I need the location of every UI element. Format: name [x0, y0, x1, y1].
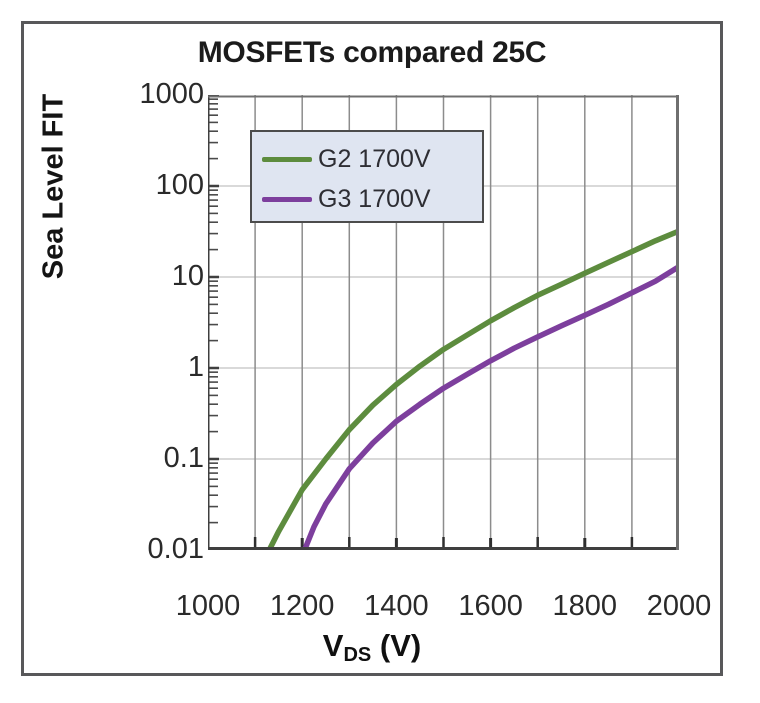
- legend-label-g2: G2 1700V: [318, 145, 431, 174]
- y-axis-tick-labels: 0.010.11101001000: [54, 95, 204, 550]
- y-tick-label: 0.1: [74, 444, 204, 473]
- x-axis-tick-labels: 100012001400160018002000: [208, 590, 679, 630]
- y-tick-label: 100: [74, 171, 204, 200]
- x-axis-title: VDS (V): [24, 628, 720, 664]
- legend-swatch-g2-icon: [262, 157, 312, 162]
- legend-item-g2[interactable]: G2 1700V: [262, 140, 431, 178]
- legend-label-g3: G3 1700V: [318, 185, 431, 214]
- chart-title: MOSFETs compared 25C: [24, 36, 720, 70]
- y-axis-major-ticks: [208, 95, 219, 550]
- legend-swatch-g3-icon: [262, 197, 312, 202]
- series-line-g3: [305, 267, 679, 550]
- series-lines: [269, 231, 679, 550]
- y-tick-label: 10: [74, 262, 204, 291]
- series-line-g2: [269, 231, 679, 550]
- legend-item-g3[interactable]: G3 1700V: [262, 180, 431, 218]
- x-axis-title-subscript: DS: [343, 644, 371, 666]
- y-tick-label: 1000: [74, 80, 204, 109]
- y-tick-label: 1: [74, 353, 204, 382]
- y-tick-label: 0.01: [74, 535, 204, 564]
- x-tick-label: 2000: [619, 590, 739, 623]
- chart-figure-frame: MOSFETs compared 25C Sea Level FIT 0.010…: [21, 21, 723, 676]
- x-axis-title-unit: (V): [371, 628, 421, 663]
- chart-legend[interactable]: G2 1700V G3 1700V: [250, 130, 484, 223]
- x-axis-title-main: V: [323, 628, 344, 663]
